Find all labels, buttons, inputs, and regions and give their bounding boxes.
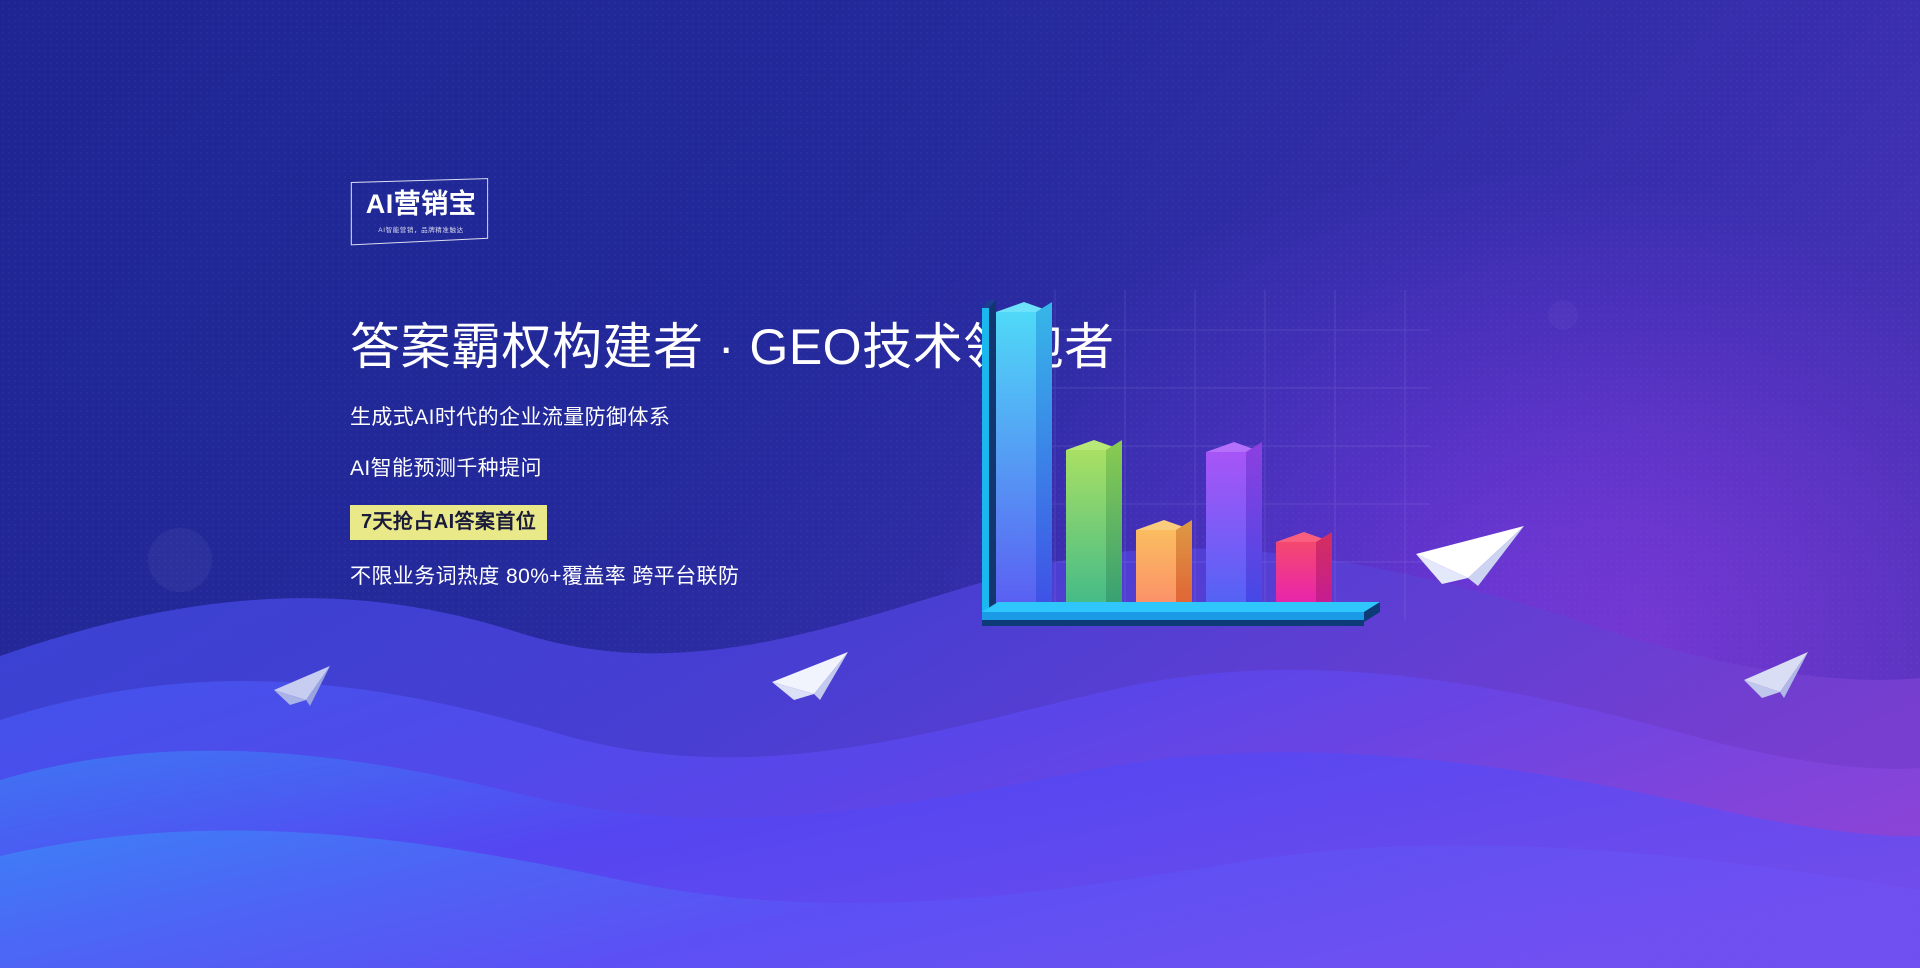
- hero-highlight-badge: 7天抢占AI答案首位: [350, 505, 547, 540]
- chart-bar: [1206, 442, 1262, 612]
- chart-base-platform: [982, 602, 1380, 626]
- chart-bar: [1136, 520, 1192, 612]
- chart-bar: [1276, 532, 1332, 612]
- hero-banner: AI营销宝 AI智能营销，品牌精准触达 答案霸权构建者 · GEO技术领跑者 生…: [0, 0, 1920, 968]
- paper-plane-icon: [272, 664, 334, 715]
- decorative-circle: [1548, 300, 1578, 330]
- chart-bar: [1066, 440, 1122, 612]
- paper-plane-icon: [1742, 650, 1812, 707]
- brand-logo[interactable]: AI营销宝 AI智能营销，品牌精准触达: [352, 180, 490, 242]
- chart-y-axis: [982, 300, 996, 620]
- bar-chart-illustration: [960, 290, 1430, 680]
- chart-bar: [996, 302, 1052, 612]
- paper-plane-icon: [1412, 520, 1528, 599]
- paper-plane-icon: [770, 648, 852, 711]
- brand-logo-text: AI营销宝: [352, 191, 490, 218]
- brand-logo-subtitle: AI智能营销，品牌精准触达: [352, 224, 490, 234]
